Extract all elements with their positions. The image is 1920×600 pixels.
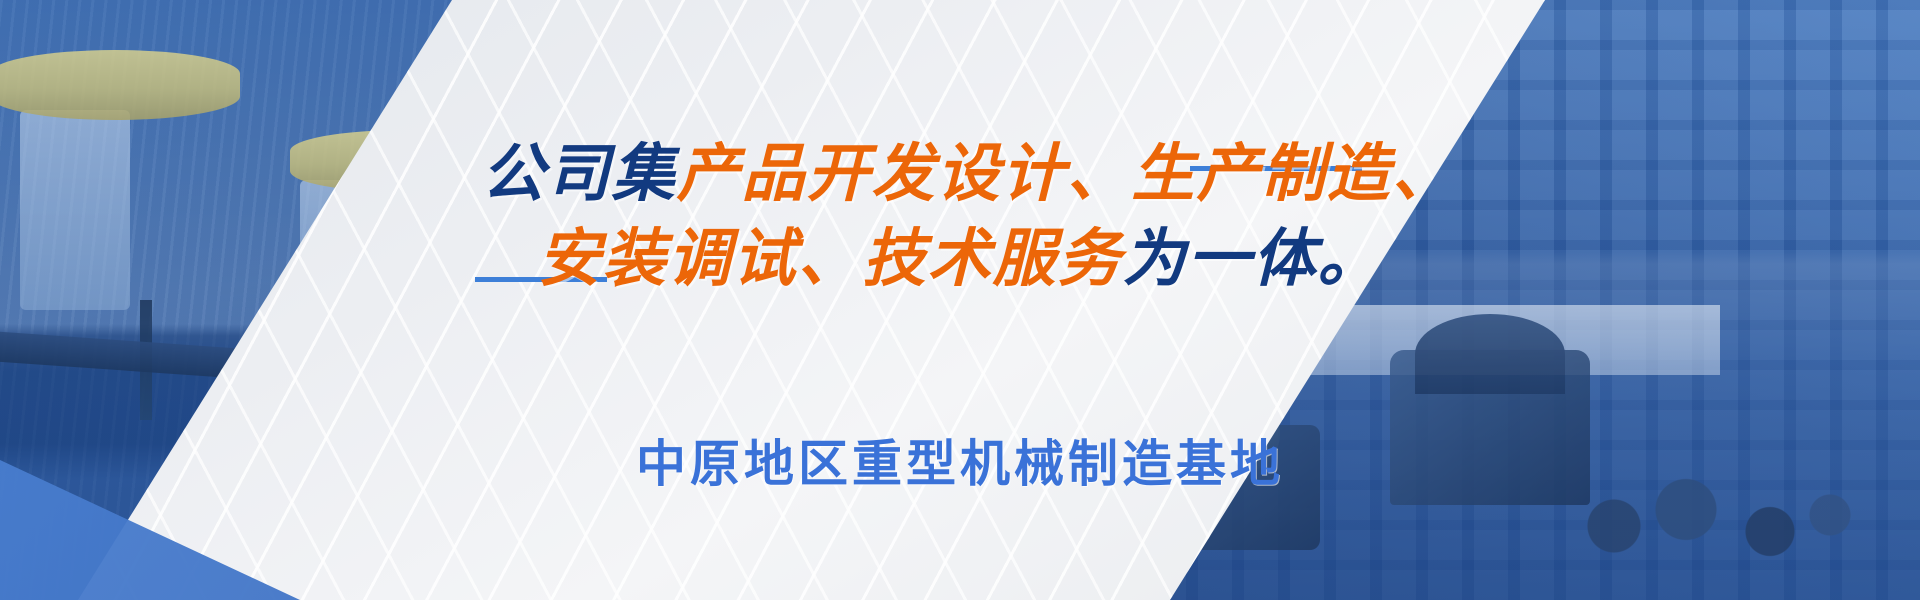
hero-banner: 公司集产品开发设计、生产制造、 安装调试、技术服务为一体。 中原地区重型机械制造…: [0, 0, 1920, 600]
headline-line-1-navy: 公司集: [482, 139, 677, 209]
banner-content: 公司集产品开发设计、生产制造、 安装调试、技术服务为一体。 中原地区重型机械制造…: [0, 0, 1920, 600]
headline-line-1: 公司集产品开发设计、生产制造、: [0, 140, 1920, 209]
headline-line-2-navy: 为一体。: [1123, 224, 1383, 294]
headline-line-2: 安装调试、技术服务为一体。: [0, 225, 1920, 294]
headline-line-2-orange: 安装调试、技术服务: [538, 224, 1123, 294]
headline-line-1-orange: 产品开发设计、生产制造、: [677, 139, 1457, 209]
banner-subtitle: 中原地区重型机械制造基地: [0, 424, 1920, 496]
headline-group: 公司集产品开发设计、生产制造、 安装调试、技术服务为一体。: [0, 140, 1920, 295]
